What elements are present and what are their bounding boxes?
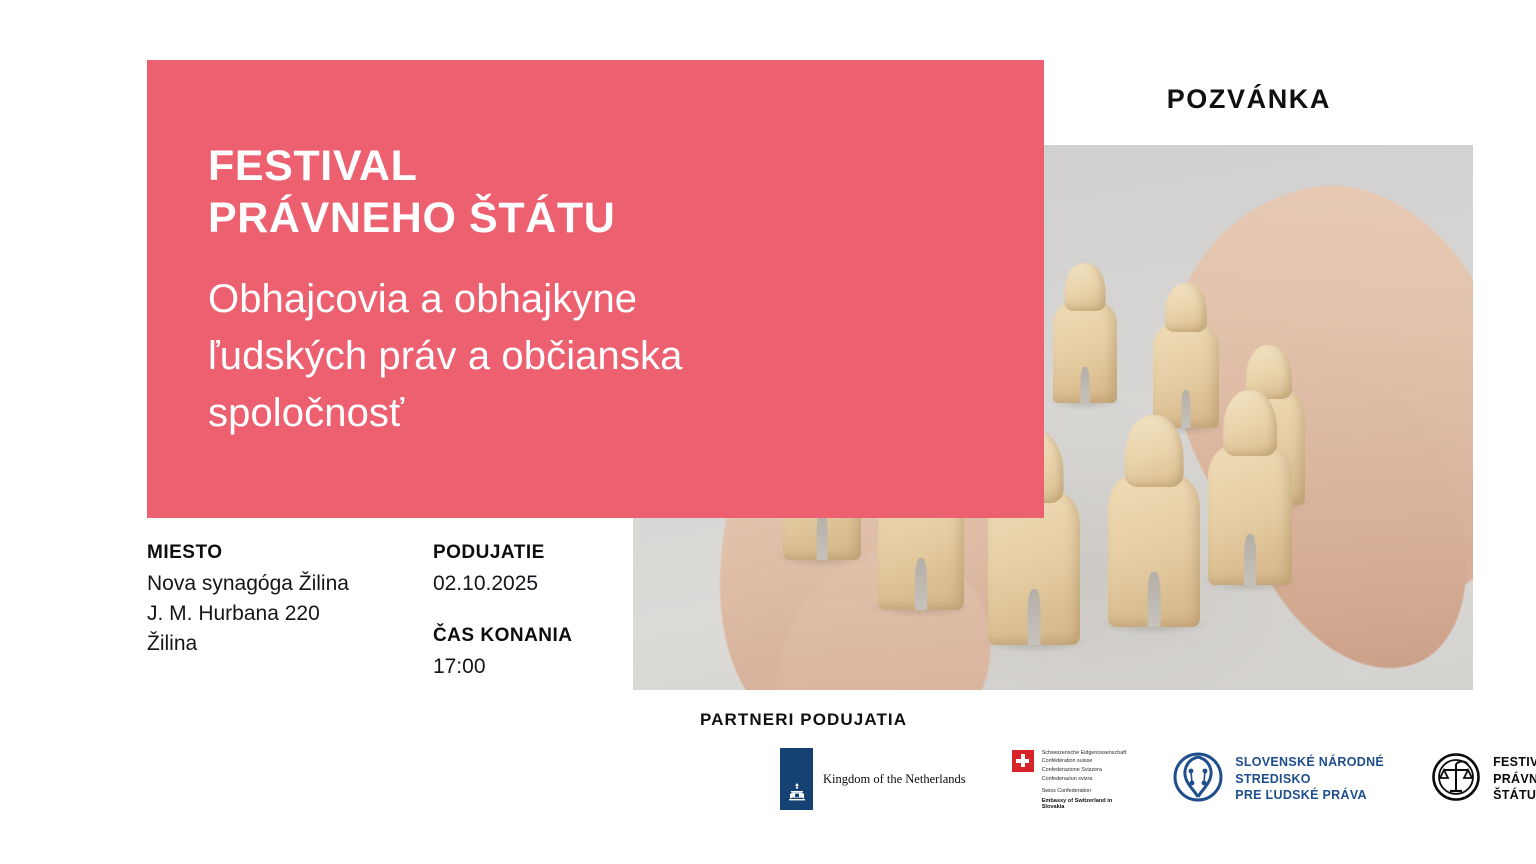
scales-of-justice-icon [1430, 751, 1482, 808]
netherlands-crest-icon [780, 748, 813, 810]
snslp-emblem-icon [1172, 751, 1224, 808]
festival-logo-line-2: PRÁVNEHO [1493, 771, 1536, 788]
swiss-embassy-label: Embassy of Switzerland in Slovakia [1042, 798, 1127, 810]
subtitle-line-3: spoločnosť [208, 385, 908, 442]
date-time-block: PODUJATIE 02.10.2025 ČAS KONANIA 17:00 [433, 542, 573, 682]
swiss-line-it: Confederazione Svizzera [1042, 766, 1127, 775]
wooden-figure [1108, 415, 1200, 627]
venue-heading: MIESTO [147, 542, 349, 564]
snslp-line-2: STREDISKO [1235, 771, 1384, 788]
snslp-line-3: PRE ĽUDSKÉ PRÁVA [1235, 787, 1384, 804]
swiss-cross-icon [1012, 750, 1034, 772]
event-time: 17:00 [433, 652, 573, 682]
logo-festival-pravneho-statu: FESTIVAL PRÁVNEHO ŠTÁTU [1430, 751, 1536, 808]
swiss-subtitle: Swiss Confederation [1042, 788, 1127, 794]
venue-block: MIESTO Nova synagóga Žilina J. M. Hurban… [147, 542, 349, 682]
partner-logos: Kingdom of the Netherlands Schweizerisch… [780, 748, 1536, 810]
partners-heading: PARTNERI PODUJATIA [700, 710, 907, 730]
invitation-poster: FESTIVAL PRÁVNEHO ŠTÁTU Obhajcovia a obh… [0, 0, 1536, 864]
snslp-line-1: SLOVENSKÉ NÁRODNÉ [1235, 754, 1384, 771]
netherlands-label: Kingdom of the Netherlands [823, 772, 966, 787]
wooden-figure [1053, 263, 1117, 403]
swiss-line-rm: Confederaziun svizra [1042, 775, 1127, 784]
time-heading: ČAS KONANIA [433, 625, 573, 647]
festival-logo-line-3: ŠTÁTU [1493, 787, 1536, 804]
venue-line-1: Nova synagóga Žilina [147, 569, 349, 599]
venue-line-2: J. M. Hurbana 220 [147, 599, 349, 629]
logo-kingdom-of-netherlands: Kingdom of the Netherlands [780, 748, 966, 810]
festival-logo-line-1: FESTIVAL [1493, 754, 1536, 771]
swiss-line-fr: Confédération suisse [1042, 757, 1127, 766]
logo-swiss-embassy: Schweizerische Eidgenossenschaft Confédé… [1012, 749, 1127, 810]
subtitle-line-2: ľudských práv a občianska [208, 328, 908, 385]
title-line-2: PRÁVNEHO ŠTÁTU [208, 192, 908, 244]
event-heading: PODUJATIE [433, 542, 573, 564]
logo-slovak-national-centre: SLOVENSKÉ NÁRODNÉ STREDISKO PRE ĽUDSKÉ P… [1172, 751, 1384, 808]
event-date: 02.10.2025 [433, 569, 573, 599]
headline-group: FESTIVAL PRÁVNEHO ŠTÁTU Obhajcovia a obh… [208, 140, 908, 441]
event-details: MIESTO Nova synagóga Žilina J. M. Hurban… [147, 542, 573, 682]
title-line-1: FESTIVAL [208, 140, 908, 192]
venue-line-3: Žilina [147, 629, 349, 659]
wooden-figure [1208, 390, 1292, 585]
swiss-line-de: Schweizerische Eidgenossenschaft [1042, 749, 1127, 758]
invitation-kicker: POZVÁNKA [1167, 84, 1331, 115]
subtitle-line-1: Obhajcovia a obhajkyne [208, 271, 908, 328]
